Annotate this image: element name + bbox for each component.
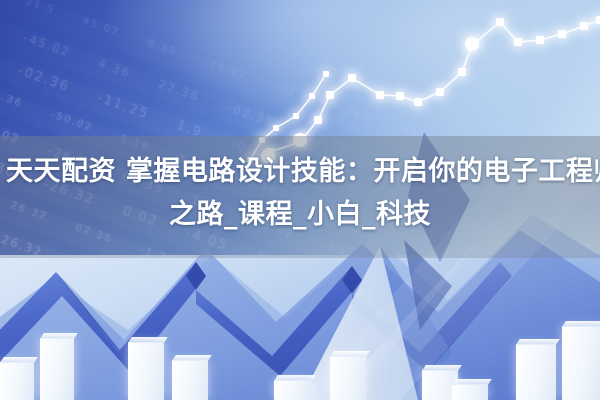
ribbon-right-cap bbox=[342, 266, 362, 294]
ribbon-front-left bbox=[0, 262, 206, 400]
ticker-number: 45.02 bbox=[81, 16, 121, 39]
ticker-number: 1.25 bbox=[539, 313, 575, 337]
ticker-number: 8.35 bbox=[146, 38, 178, 58]
glow-node bbox=[514, 38, 522, 46]
ticker-number: -26.32 bbox=[396, 299, 452, 331]
glow-node bbox=[436, 88, 444, 96]
title-line-2: 之路_课程_小白_科技 bbox=[0, 193, 600, 236]
glow-node bbox=[596, 16, 600, 24]
ticker-number: -06.3 bbox=[468, 393, 510, 400]
ticker-number: 21.5 bbox=[343, 106, 375, 126]
ticker-number: 21.5 bbox=[24, 0, 56, 16]
glow-node bbox=[458, 68, 466, 76]
glow-node bbox=[273, 125, 279, 131]
glow-flare bbox=[465, 37, 479, 51]
title-line-1: 天天配资 掌握电路设计技能：开启你的电子工程师 bbox=[0, 150, 600, 193]
glow-node bbox=[293, 113, 299, 119]
bar-column bbox=[128, 342, 164, 400]
ticker-number: 2.36 bbox=[501, 265, 533, 285]
ticker-number: -50.02 bbox=[258, 286, 303, 311]
ticker-number: 0.02 bbox=[475, 326, 515, 352]
ticker-number: 02.36 bbox=[393, 332, 433, 355]
ticker-number: 4.36 bbox=[96, 56, 132, 80]
ticker-number: -50.02 bbox=[577, 396, 598, 400]
glow-node bbox=[323, 71, 329, 77]
pyramid-light bbox=[300, 246, 418, 400]
ticker-number: -4.05 bbox=[539, 348, 585, 376]
ticker-number: -11.26 bbox=[558, 284, 600, 309]
banner-title: 天天配资 掌握电路设计技能：开启你的电子工程师 之路_课程_小白_科技 bbox=[0, 150, 600, 236]
ribbon-front-left-side bbox=[56, 272, 128, 360]
ticker-number: -1.25 bbox=[458, 355, 496, 377]
ticker-number: 1.16 bbox=[204, 302, 240, 326]
ticker-number: 05.12 bbox=[95, 300, 145, 330]
ticker-number: 02.32 bbox=[241, 350, 291, 380]
ticker-number: 4.25 bbox=[520, 376, 552, 396]
ticker-number: -15.02 bbox=[203, 57, 248, 82]
glow-node bbox=[376, 91, 384, 99]
ticker-number: 02.32 bbox=[399, 369, 444, 396]
ticker-number: -26.32 bbox=[324, 344, 375, 373]
promo-banner: -15.02-02.3621.545.028.35-15.02-02.3621.… bbox=[0, 0, 600, 400]
bar-column bbox=[562, 326, 600, 400]
ticker-number: -26.32 bbox=[396, 264, 447, 293]
glow-node bbox=[580, 22, 588, 30]
ticker-number: -02.36 bbox=[273, 82, 318, 107]
ticker-number: -02.35 bbox=[226, 100, 277, 129]
ticker-number: -02.36 bbox=[317, 272, 373, 304]
glow-node bbox=[468, 41, 476, 49]
glow-node bbox=[536, 36, 544, 44]
ticker-number: 02.32 bbox=[69, 256, 114, 283]
bar-column bbox=[0, 362, 34, 400]
pyramid-shade bbox=[380, 246, 452, 400]
ticker-number: 0.09 bbox=[264, 323, 300, 347]
ribbon-front-right bbox=[196, 266, 362, 376]
glow-node bbox=[309, 93, 315, 99]
glow-polyline bbox=[270, 20, 600, 152]
ticker-number: -50.02 bbox=[49, 109, 94, 134]
ticker-number: 22.36 bbox=[157, 77, 202, 104]
ticker-number: 26.32 bbox=[328, 310, 368, 333]
ribbon-left-cap bbox=[186, 262, 206, 290]
ticker-number: 02.32 bbox=[168, 325, 218, 355]
glow-node bbox=[396, 92, 404, 100]
bar-column bbox=[330, 356, 366, 400]
glow-node bbox=[558, 30, 566, 38]
glow-node bbox=[496, 18, 504, 26]
bar-column bbox=[172, 360, 208, 400]
bar-column bbox=[516, 344, 556, 400]
ribbon-front-far-right bbox=[352, 262, 512, 372]
glow-node bbox=[414, 98, 422, 106]
glow-node bbox=[326, 91, 334, 99]
glow-node bbox=[314, 116, 322, 124]
lower-sky-gradient bbox=[0, 255, 600, 400]
ticker-number: 02.35 bbox=[470, 290, 515, 317]
ticker-number: -45.02 bbox=[22, 30, 73, 59]
ticker-number: -02.36 bbox=[0, 85, 24, 110]
bar-column bbox=[452, 384, 488, 400]
ticker-number: 01.12 bbox=[314, 375, 364, 400]
bar-column bbox=[422, 370, 458, 400]
ticker-number: -02.36 bbox=[16, 63, 72, 95]
bar-column bbox=[274, 380, 312, 400]
ticker-number: -06.3 bbox=[138, 280, 180, 306]
glow-node bbox=[348, 74, 356, 82]
ticker-number: -06.38 bbox=[595, 263, 600, 295]
ticker-number: -26.32 bbox=[16, 273, 72, 305]
bar-column bbox=[40, 338, 74, 400]
ticker-number: -11.25 bbox=[95, 91, 151, 123]
ticker-number: 4.25 bbox=[201, 266, 233, 286]
